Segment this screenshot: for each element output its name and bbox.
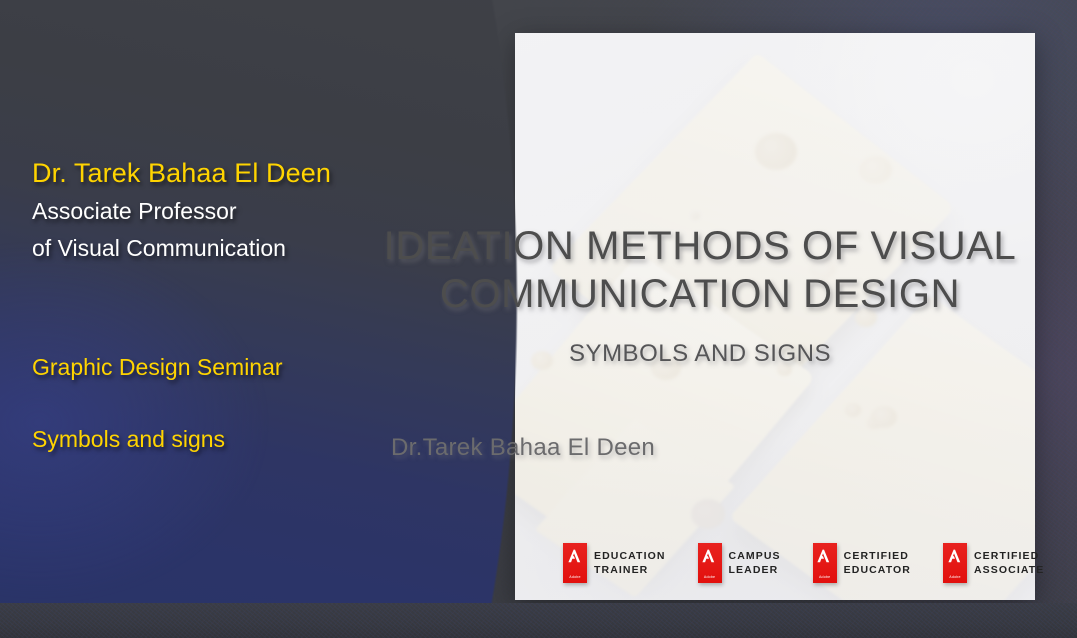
- bottom-strip: [0, 603, 1077, 638]
- adobe-badges-row: Adobe EDUCATION TRAINER Adobe CAMPUS LEA…: [563, 543, 1044, 583]
- speaker-info-block: Dr. Tarek Bahaa El Deen Associate Profes…: [32, 158, 452, 263]
- seminar-title: Graphic Design Seminar: [32, 354, 283, 381]
- adobe-wordmark: Adobe: [819, 576, 830, 580]
- badge-label: EDUCATION TRAINER: [594, 549, 666, 577]
- badge-label: CAMPUS LEADER: [729, 549, 781, 577]
- badge-campus-leader: Adobe CAMPUS LEADER: [698, 543, 781, 583]
- bottom-strip-texture: [0, 603, 1077, 638]
- badge-label: CERTIFIED EDUCATOR: [844, 549, 911, 577]
- slide-byline: Dr.Tarek Bahaa El Deen: [391, 434, 655, 462]
- speaker-name: Dr. Tarek Bahaa El Deen: [32, 158, 452, 190]
- presentation-slide: IDEATION METHODS OF VISUAL COMMUNICATION…: [0, 0, 1077, 638]
- badge-label: CERTIFIED ASSOCIATE: [974, 549, 1044, 577]
- adobe-logo-icon: Adobe: [943, 543, 967, 583]
- adobe-wordmark: Adobe: [949, 576, 960, 580]
- adobe-wordmark: Adobe: [569, 576, 580, 580]
- adobe-logo-icon: Adobe: [563, 543, 587, 583]
- speaker-role-line-1: Associate Professor: [32, 196, 452, 227]
- slide-headline: IDEATION METHODS OF VISUAL COMMUNICATION…: [370, 223, 1030, 318]
- adobe-logo-icon: Adobe: [813, 543, 837, 583]
- badge-certified-associate: Adobe CERTIFIED ASSOCIATE: [943, 543, 1044, 583]
- badge-education-trainer: Adobe EDUCATION TRAINER: [563, 543, 666, 583]
- speaker-role-line-2: of Visual Communication: [32, 233, 452, 264]
- topic-title: Symbols and signs: [32, 426, 225, 453]
- badge-certified-educator: Adobe CERTIFIED EDUCATOR: [813, 543, 911, 583]
- slide-subheadline: SYMBOLS AND SIGNS: [370, 340, 1030, 368]
- adobe-wordmark: Adobe: [704, 576, 715, 580]
- adobe-logo-icon: Adobe: [698, 543, 722, 583]
